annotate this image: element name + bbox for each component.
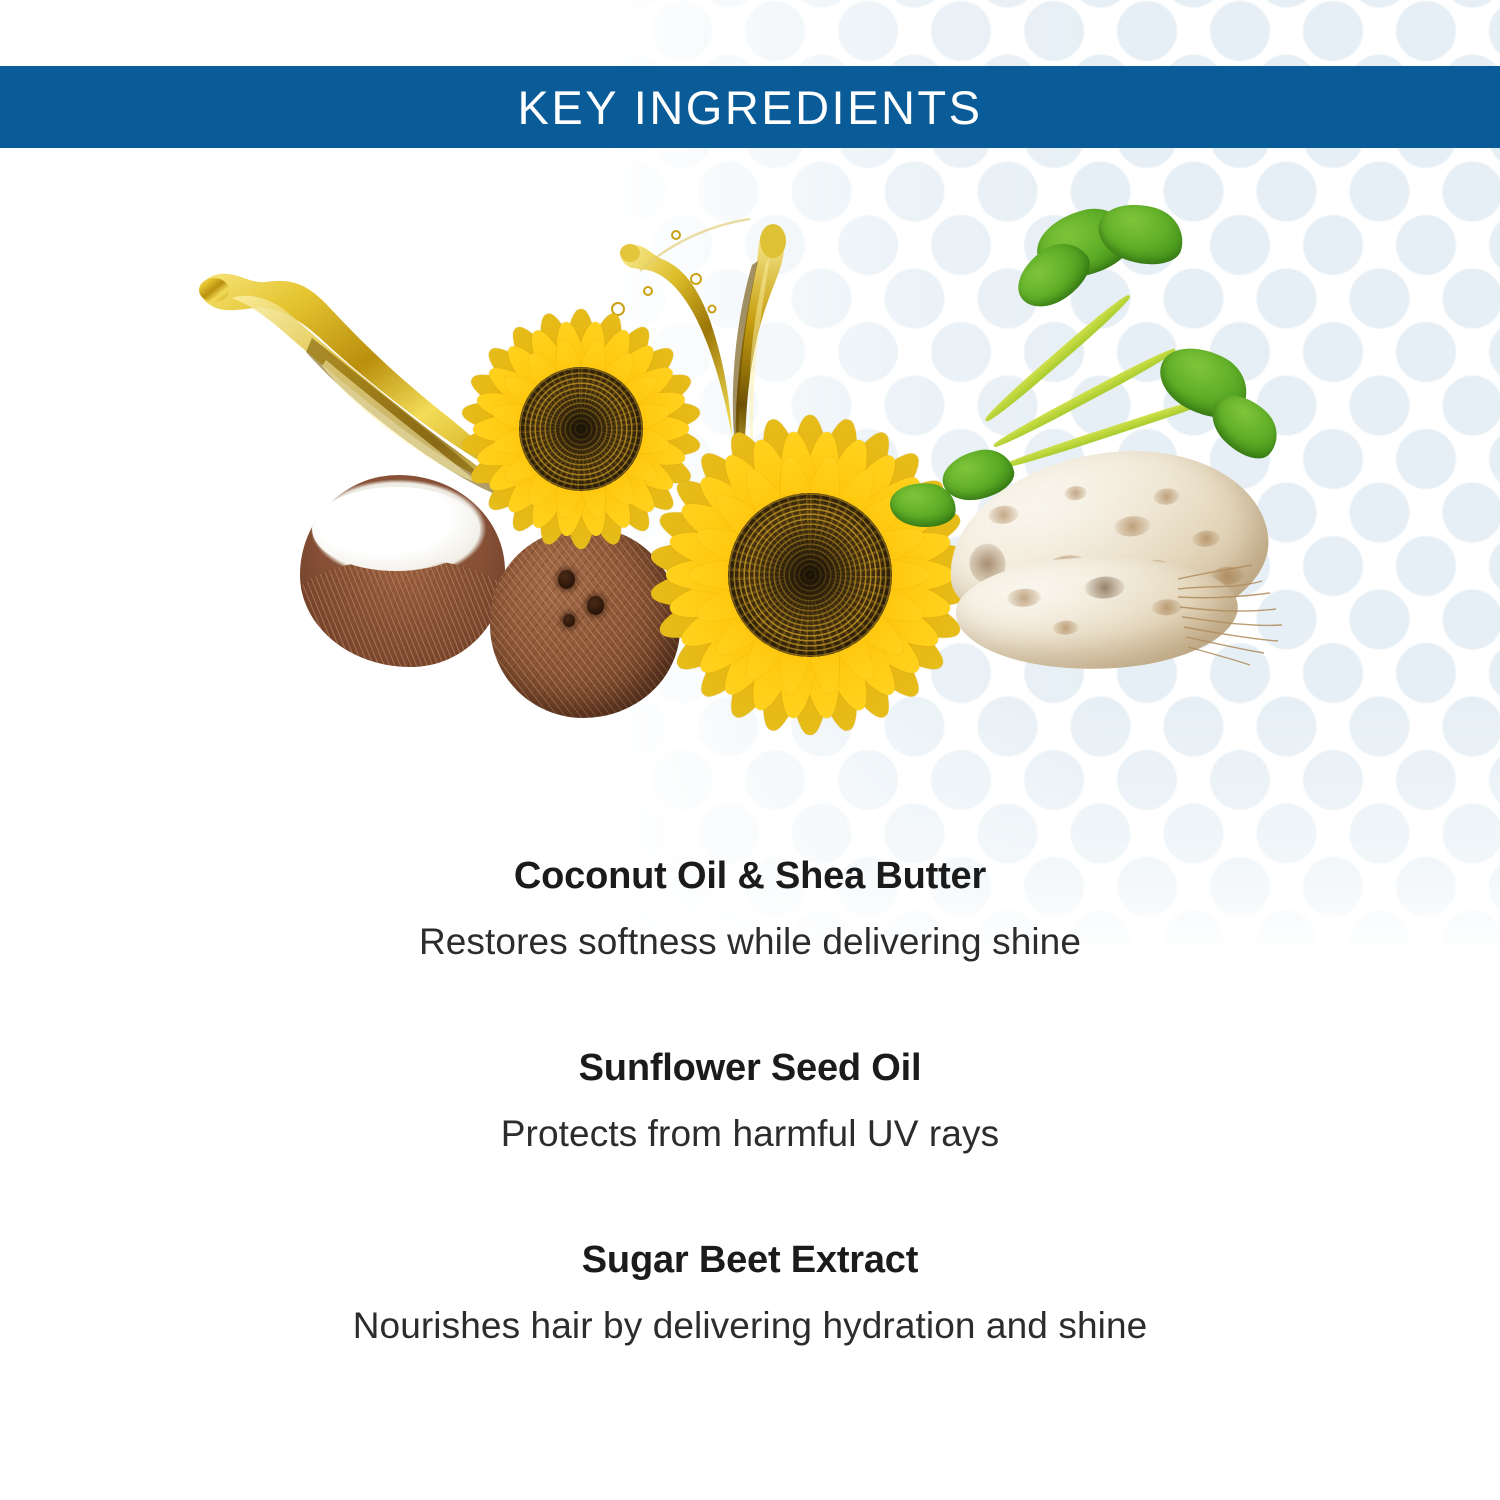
ingredient-description: Restores softness while delivering shine xyxy=(0,921,1500,964)
ingredient-name: Sunflower Seed Oil xyxy=(0,1047,1500,1091)
ingredients-hero-image xyxy=(0,150,1500,830)
ingredient-description: Nourishes hair by delivering hydration a… xyxy=(0,1305,1500,1348)
ingredients-list: Coconut Oil & Shea Butter Restores softn… xyxy=(0,855,1500,1348)
ingredient-name: Coconut Oil & Shea Butter xyxy=(0,855,1500,899)
key-ingredients-infographic: KEY INGREDIENTS xyxy=(0,0,1500,1500)
ingredient-name: Sugar Beet Extract xyxy=(0,1239,1500,1283)
ingredient-item: Sugar Beet Extract Nourishes hair by del… xyxy=(0,1239,1500,1347)
beet-stem xyxy=(982,292,1133,425)
page-title: KEY INGREDIENTS xyxy=(518,84,983,131)
ingredient-item: Sunflower Seed Oil Protects from harmful… xyxy=(0,1047,1500,1155)
sugar-beet-icon xyxy=(890,205,1310,675)
header-banner: KEY INGREDIENTS xyxy=(0,66,1500,148)
beet-root-fibers xyxy=(1178,555,1310,675)
ingredient-item: Coconut Oil & Shea Butter Restores softn… xyxy=(0,855,1500,963)
ingredient-description: Protects from harmful UV rays xyxy=(0,1113,1500,1156)
